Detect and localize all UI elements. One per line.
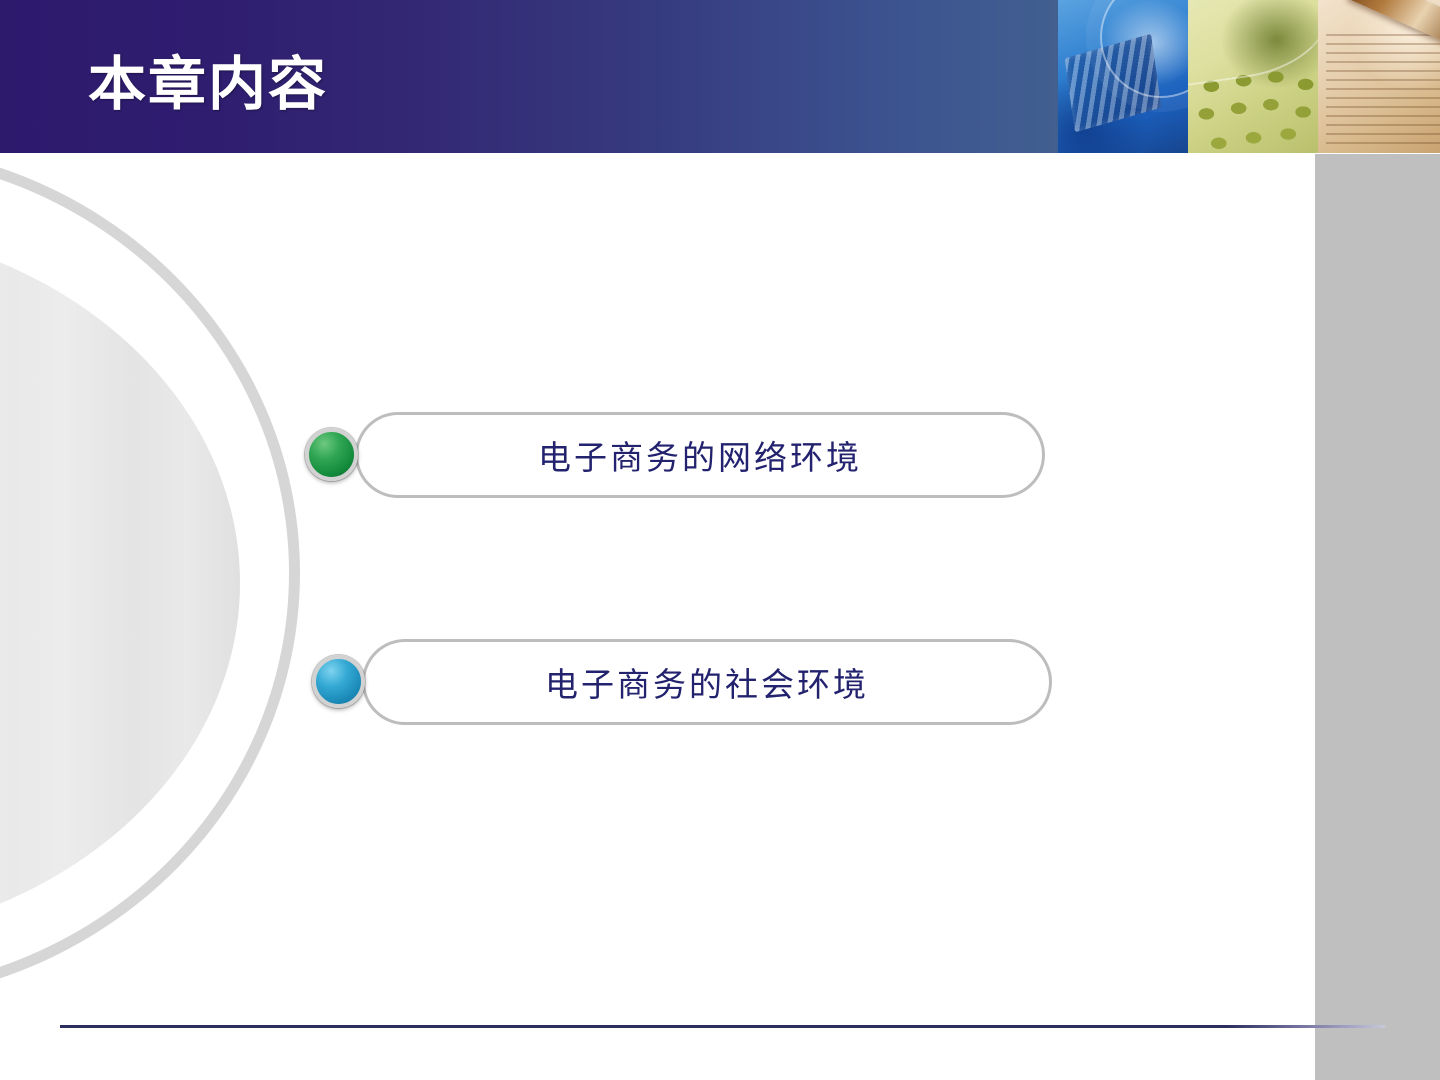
calculator-clock-photo	[1058, 0, 1188, 153]
list-item[interactable]: 电子商务的网络环境	[355, 412, 1045, 498]
map-keypad-photo	[1188, 0, 1318, 153]
header-decor-images	[1058, 0, 1440, 153]
presentation-slide: 本章内容 电子商务的网络环境 电子商务的社会环境	[0, 0, 1440, 1080]
right-gray-panel	[1315, 154, 1440, 1080]
green-sphere-icon	[305, 428, 358, 481]
arc-outer-ring	[0, 153, 300, 1003]
list-item[interactable]: 电子商务的社会环境	[362, 639, 1052, 725]
blue-sphere-icon	[312, 655, 365, 708]
page-title: 本章内容	[88, 54, 328, 116]
map-outline-decor	[1188, 0, 1318, 86]
list-item-label: 电子商务的网络环境	[538, 431, 862, 479]
list-item-label: 电子商务的社会环境	[545, 658, 869, 706]
slide-header-bar: 本章内容	[0, 0, 1440, 153]
decorative-arc-group	[0, 153, 1315, 1080]
footer-divider	[60, 1025, 1385, 1028]
pen-document-photo	[1318, 0, 1440, 153]
